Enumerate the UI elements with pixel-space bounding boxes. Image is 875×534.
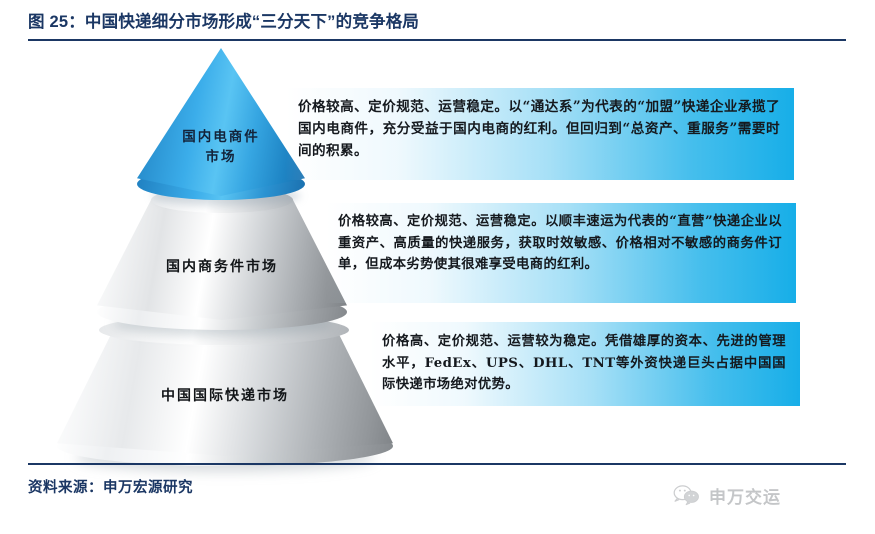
pyramid-label-china-international-express: 中国国际快递市场 bbox=[65, 386, 385, 406]
callout-business-text: 价格较高、定价规范、运营稳定。以顺丰速运为代表的“直营”快递企业以重资产、高质量… bbox=[338, 211, 782, 276]
page-title: 图 25：中国快递细分市场形成“三分天下”的竞争格局 bbox=[28, 10, 846, 34]
watermark: 申万交运 bbox=[672, 482, 781, 508]
pyramid-label-domestic-business: 国内商务件市场 bbox=[101, 257, 343, 277]
figure-page: 图 25：中国快递细分市场形成“三分天下”的竞争格局 国内电商件 市场 国内商务… bbox=[0, 0, 875, 534]
pyramid-tier-domestic-ecommerce bbox=[137, 48, 305, 196]
title-divider bbox=[28, 39, 846, 41]
callout-ecommerce-text: 价格较高、定价规范、运营稳定。以“通达系”为代表的“加盟”快递企业承揽了国内电商… bbox=[298, 96, 780, 162]
callout-business: 价格较高、定价规范、运营稳定。以顺丰速运为代表的“直营”快递企业以重资产、高质量… bbox=[326, 203, 796, 303]
callout-ecommerce: 价格较高、定价规范、运营稳定。以“通达系”为代表的“加盟”快递企业承揽了国内电商… bbox=[286, 88, 794, 180]
watermark-text: 申万交运 bbox=[709, 483, 781, 508]
source-note: 资料来源：申万宏源研究 bbox=[28, 476, 193, 497]
wechat-icon bbox=[672, 482, 702, 508]
figure-title-block: 图 25：中国快递细分市场形成“三分天下”的竞争格局 bbox=[28, 10, 846, 44]
footer-divider bbox=[28, 463, 846, 465]
callout-international-text: 价格高、定价规范、运营较为稳定。凭借雄厚的资本、先进的管理水平，FedEx、UP… bbox=[382, 331, 786, 396]
callout-international: 价格高、定价规范、运营较为稳定。凭借雄厚的资本、先进的管理水平，FedEx、UP… bbox=[370, 322, 800, 406]
